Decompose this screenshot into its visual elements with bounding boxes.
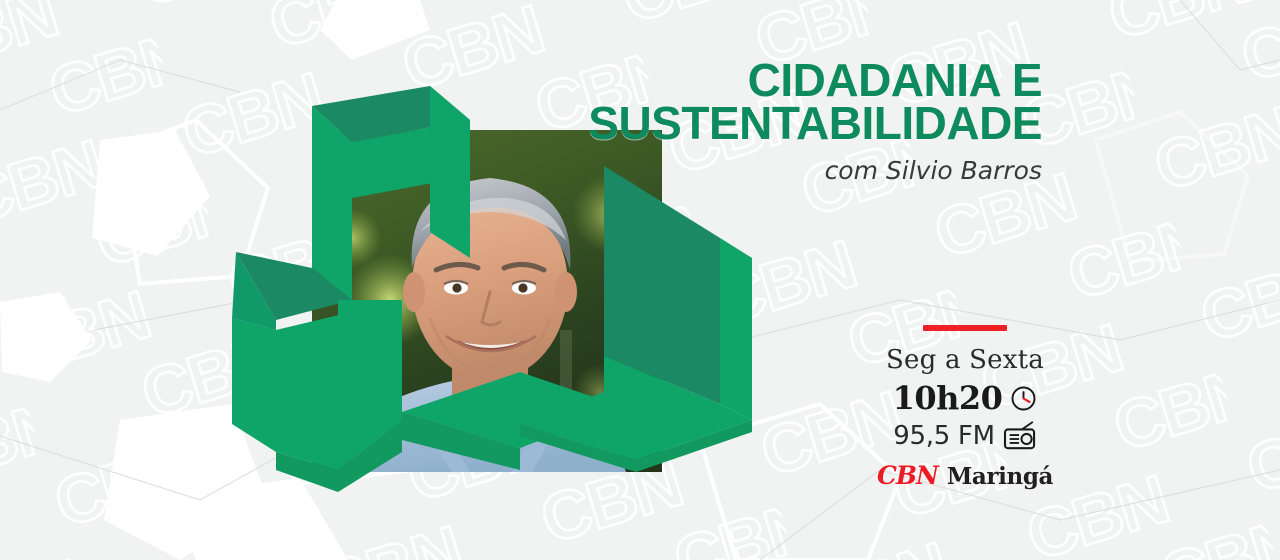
cbn-wordmark: CBN xyxy=(877,463,938,488)
broadcast-days: Seg a Sexta xyxy=(860,345,1070,375)
program-titles: CIDADANIA E SUSTENTABILIDADE com Silvio … xyxy=(422,60,1042,185)
cbn-city-name: Maringá xyxy=(947,465,1053,488)
program-title-line-2: SUSTENTABILIDADE xyxy=(422,103,1042,143)
broadcast-frequency-row: 95,5 FM xyxy=(860,421,1070,451)
schedule-info-block: Seg a Sexta 10h20 95,5 FM CBN Maringá xyxy=(860,325,1070,488)
broadcast-time: 10h20 xyxy=(893,381,1003,415)
cbn-maringa-logo: CBN Maringá xyxy=(860,463,1070,488)
program-banner: CBN CBN xyxy=(0,0,1280,560)
broadcast-time-row: 10h20 xyxy=(860,381,1070,415)
broadcast-frequency: 95,5 FM xyxy=(893,422,994,450)
host-credit: com Silvio Barros xyxy=(422,157,1042,185)
program-title-line-1: CIDADANIA E xyxy=(422,60,1042,100)
red-divider-rule xyxy=(923,325,1007,331)
radio-icon xyxy=(1003,421,1037,451)
clock-icon xyxy=(1010,385,1037,412)
